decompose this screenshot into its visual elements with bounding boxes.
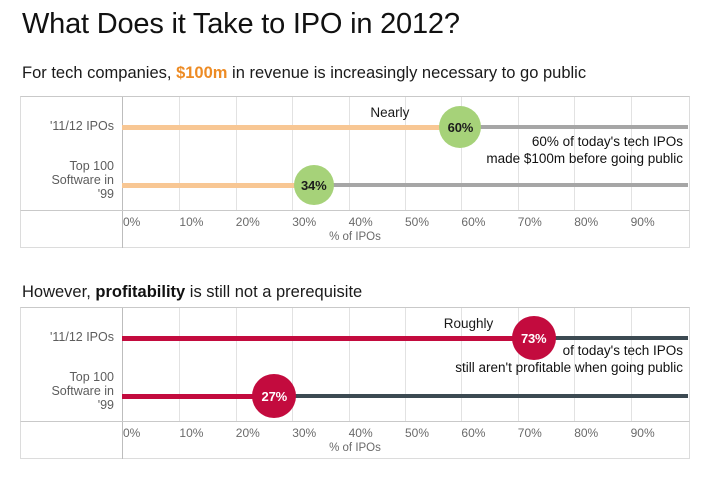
axis-area-revenue: 0%10%20%30%40%50%60%70%80%90% % of IPOs [20, 211, 690, 248]
remainder-line-right [314, 183, 688, 187]
value-line-left [122, 183, 314, 188]
x-tick-label: 20% [236, 426, 260, 440]
category-label-top100: Top 100 Software in '99 [51, 159, 114, 201]
section-subtitle-revenue: For tech companies, $100m in revenue is … [22, 64, 586, 83]
remainder-line-right [534, 336, 688, 340]
x-tick-label: 10% [179, 215, 203, 229]
gridline [179, 308, 180, 421]
plot-area-revenue: '11/12 IPOs Top 100 Software in '99 60%3… [20, 96, 690, 211]
x-axis-title-profitability: % of IPOs [21, 442, 689, 454]
x-tick-label: 50% [405, 426, 429, 440]
x-tick-label: 0% [123, 215, 140, 229]
annotation-qualifier: Nearly [370, 105, 409, 120]
x-tick-label: 30% [292, 426, 316, 440]
annotation-qualifier: Roughly [444, 316, 494, 331]
x-tick-label: 60% [461, 215, 485, 229]
caption-line-1: 60% of today's tech IPOs [486, 133, 683, 150]
x-tick-label: 50% [405, 215, 429, 229]
chart-revenue: '11/12 IPOs Top 100 Software in '99 60%3… [20, 96, 690, 248]
x-tick-label: 90% [631, 426, 655, 440]
value-line-left [122, 125, 460, 130]
infographic-page: What Does it Take to IPO in 2012? For te… [0, 0, 703, 490]
section-subtitle-profitability: However, profitability is still not a pr… [22, 283, 362, 302]
x-tick-label: 40% [349, 215, 373, 229]
gridline [349, 97, 350, 210]
category-label-ipos: '11/12 IPOs [50, 330, 114, 344]
subtitle-pre-text: For tech companies, [22, 64, 176, 82]
x-tick-label: 10% [179, 426, 203, 440]
category-labels-profitability: '11/12 IPOs Top 100 Software in '99 [21, 308, 122, 421]
chart-profitability: '11/12 IPOs Top 100 Software in '99 73%2… [20, 307, 690, 459]
remainder-line-right [460, 125, 688, 129]
subtitle-pre-text: However, [22, 283, 95, 301]
gridline [236, 308, 237, 421]
caption-line-1: of today's tech IPOs [455, 342, 683, 359]
category-labels-revenue: '11/12 IPOs Top 100 Software in '99 [21, 97, 122, 210]
caption-line-2: made $100m before going public [486, 150, 683, 167]
remainder-line-right [274, 394, 688, 398]
subtitle-accent-text: $100m [176, 64, 227, 82]
gridline [179, 97, 180, 210]
subtitle-post-text: is still not a prerequisite [185, 283, 362, 301]
x-tick-label: 20% [236, 215, 260, 229]
subtitle-post-text: in revenue is increasingly necessary to … [227, 64, 586, 82]
value-line-left [122, 336, 534, 341]
value-bubble: 27% [252, 374, 296, 418]
x-tick-label: 30% [292, 215, 316, 229]
value-bubble: 34% [294, 165, 334, 205]
x-tick-label: 60% [461, 426, 485, 440]
gridline [349, 308, 350, 421]
subtitle-accent-text: profitability [95, 283, 185, 301]
annotation-caption: of today's tech IPOsstill aren't profita… [455, 342, 683, 376]
category-label-ipos: '11/12 IPOs [50, 119, 114, 133]
x-tick-label: 80% [574, 426, 598, 440]
caption-line-2: still aren't profitable when going publi… [455, 359, 683, 376]
gridline [236, 97, 237, 210]
page-title: What Does it Take to IPO in 2012? [22, 8, 460, 41]
gridline [292, 97, 293, 210]
category-label-top100: Top 100 Software in '99 [51, 370, 114, 412]
x-tick-label: 40% [349, 426, 373, 440]
x-tick-label: 0% [123, 426, 140, 440]
annotation-caption: 60% of today's tech IPOsmade $100m befor… [486, 133, 683, 167]
x-axis-title-revenue: % of IPOs [21, 231, 689, 243]
x-tick-label: 70% [518, 215, 542, 229]
gridline [405, 308, 406, 421]
x-tick-label: 80% [574, 215, 598, 229]
x-tick-label: 70% [518, 426, 542, 440]
plot-area-profitability: '11/12 IPOs Top 100 Software in '99 73%2… [20, 307, 690, 422]
x-tick-label: 90% [631, 215, 655, 229]
axis-area-profitability: 0%10%20%30%40%50%60%70%80%90% % of IPOs [20, 422, 690, 459]
